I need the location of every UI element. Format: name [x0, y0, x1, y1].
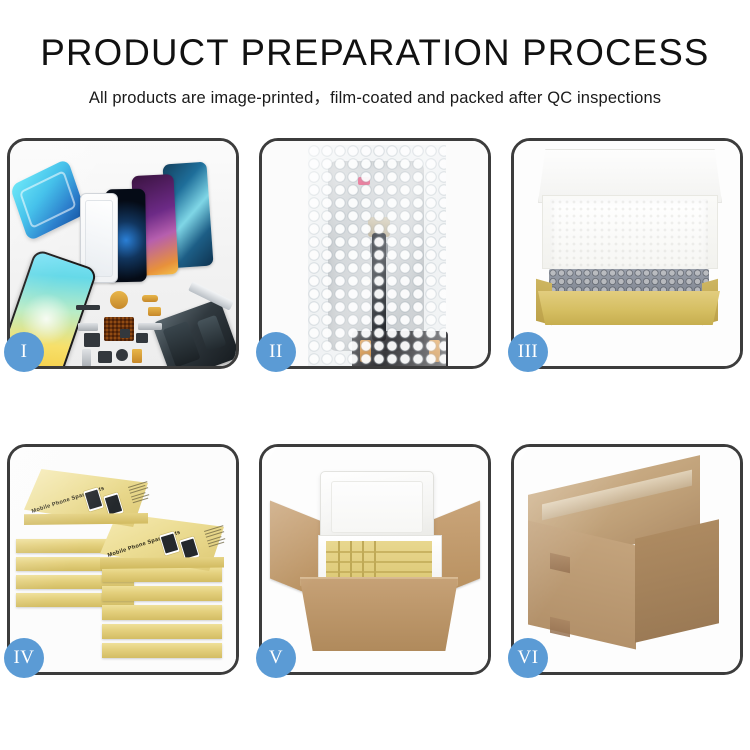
- photo-carton-with-foam-box: [262, 447, 488, 672]
- process-step-panel-6[interactable]: VI: [511, 444, 743, 675]
- carton-right-face: [635, 519, 719, 642]
- step-badge-5: V: [256, 638, 296, 678]
- step-badge-2: II: [256, 332, 296, 372]
- panel-image-4: Mobile Phone Spare Parts Mobile Phone: [10, 447, 236, 672]
- step-badge-1: I: [4, 332, 44, 372]
- spare-parts-cluster: [76, 289, 196, 366]
- panel-image-6: [514, 447, 740, 672]
- process-step-panel-2[interactable]: II: [259, 138, 491, 369]
- page-header: PRODUCT PREPARATION PROCESS All products…: [0, 0, 750, 108]
- process-row-2: Mobile Phone Spare Parts Mobile Phone: [0, 444, 750, 675]
- photo-bubble-wrapped-screen: [262, 141, 488, 366]
- process-row-1: I: [0, 138, 750, 369]
- photo-stacked-retail-boxes: Mobile Phone Spare Parts Mobile Phone: [10, 447, 236, 672]
- process-step-panel-1[interactable]: I: [7, 138, 239, 369]
- box-front-panel: [538, 291, 720, 325]
- process-step-panel-4[interactable]: Mobile Phone Spare Parts Mobile Phone: [7, 444, 239, 675]
- step-badge-6: VI: [508, 638, 548, 678]
- bag-sheen: [308, 145, 446, 366]
- photo-open-mailer-box: [514, 141, 740, 366]
- carton-front: [300, 579, 458, 651]
- panel-image-2: [262, 141, 488, 366]
- step-badge-3: III: [508, 332, 548, 372]
- foam-box-lid: [320, 471, 434, 545]
- page-title: PRODUCT PREPARATION PROCESS: [4, 34, 747, 73]
- panel-image-1: [10, 141, 236, 366]
- panel-image-3: [514, 141, 740, 366]
- panel-image-5: [262, 447, 488, 672]
- step-badge-4: IV: [4, 638, 44, 678]
- process-step-panel-5[interactable]: V: [259, 444, 491, 675]
- foam-sheet: [550, 199, 708, 271]
- bubble-bag: [308, 145, 446, 366]
- page-subtitle: All products are image-printed，film-coat…: [0, 84, 750, 108]
- process-step-grid: I: [0, 138, 750, 750]
- photo-phone-parts: [10, 141, 236, 366]
- photo-sealed-carton: [514, 447, 740, 672]
- process-step-panel-3[interactable]: III: [511, 138, 743, 369]
